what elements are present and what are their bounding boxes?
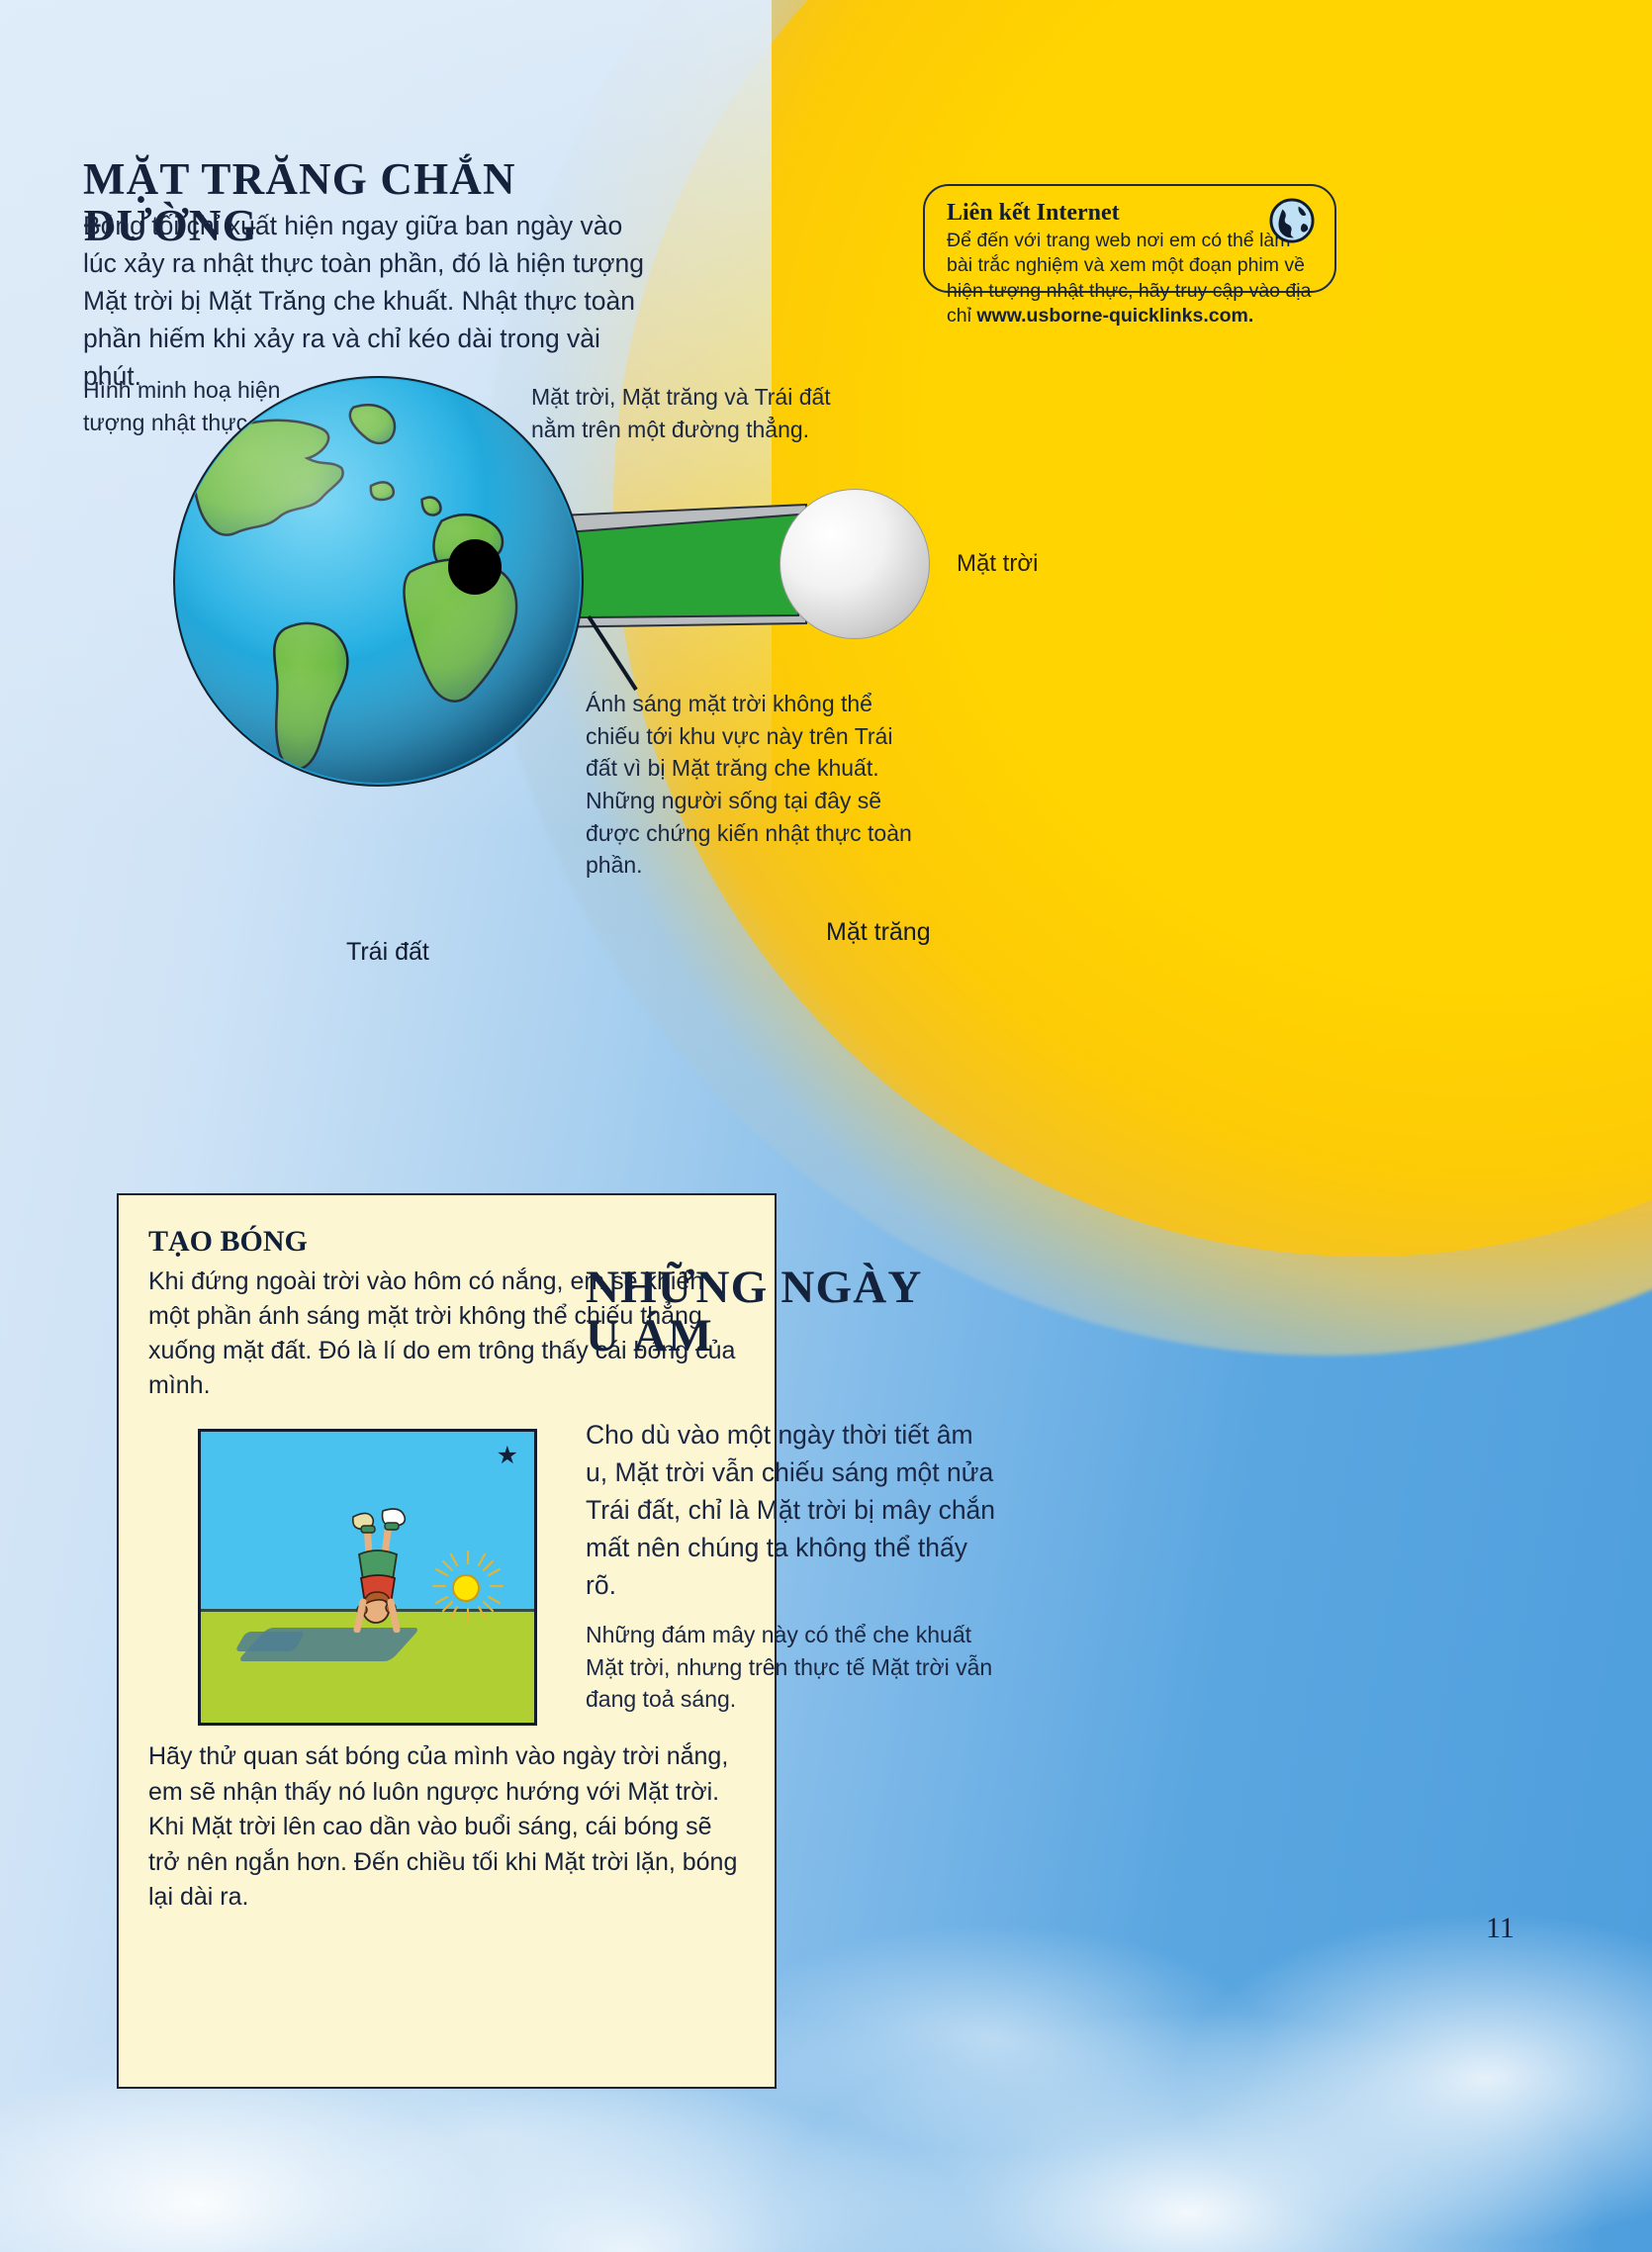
page-root: MẶT TRĂNG CHẮN ĐƯỜNG Bóng tối chỉ xuất h… xyxy=(0,0,1652,2252)
moon-sphere xyxy=(780,489,930,639)
cloudy-days-paragraph-1: Cho dù vào một ngày thời tiết âm u, Mặt … xyxy=(586,1416,996,1605)
internet-link-box: Liên kết Internet Để đến với trang web n… xyxy=(923,184,1336,293)
internet-box-title: Liên kết Internet xyxy=(947,200,1317,227)
label-sun: Mặt trời xyxy=(957,550,1038,578)
cloudy-days-title-line2: U ÁM xyxy=(586,1312,942,1361)
child-shadow-legs xyxy=(234,1632,306,1651)
earth-globe xyxy=(173,376,584,787)
shadow-panel-footer: Hãy thử quan sát bóng của mình vào ngày … xyxy=(148,1739,749,1916)
label-moon: Mặt trăng xyxy=(826,918,931,947)
handstand-illustration: ★ xyxy=(198,1429,537,1726)
globe-icon xyxy=(1269,198,1315,243)
cloudy-days-title: NHỮNG NGÀY U ÁM xyxy=(586,1264,942,1361)
eclipse-diagram: Trái đất Mặt trăng xyxy=(173,366,955,782)
page-number: 11 xyxy=(1486,1912,1514,1945)
label-earth: Trái đất xyxy=(346,938,429,967)
shadow-panel-title: TẠO BÓNG xyxy=(148,1225,749,1259)
child-figure xyxy=(343,1499,413,1633)
illustration-sun xyxy=(452,1574,480,1602)
cloudy-days-paragraph-2: Những đám mây này có thể che khuất Mặt t… xyxy=(586,1619,1001,1716)
umbra-spot xyxy=(448,539,502,595)
internet-box-url[interactable]: www.usborne-quicklinks.com. xyxy=(976,305,1253,327)
internet-box-body: Để đến với trang web nơi em có thể làm b… xyxy=(947,229,1317,328)
star-icon: ★ xyxy=(497,1444,518,1468)
cloudy-days-title-line1: NHỮNG NGÀY xyxy=(586,1264,942,1312)
earth-continents xyxy=(175,378,582,785)
